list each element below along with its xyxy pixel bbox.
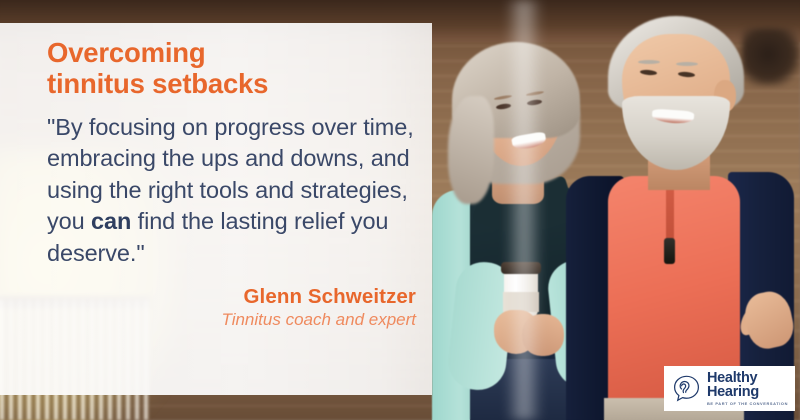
logo-wordmark: Healthy Hearing BE PART OF THE CONVERSAT… <box>707 371 795 406</box>
tinnitus-quote-banner: Overcoming tinnitus setbacks "By focusin… <box>0 0 800 420</box>
quote-emphasis: can <box>91 208 131 234</box>
man-eyebrow-right <box>676 62 698 66</box>
hanging-lamp <box>742 28 800 86</box>
panel-content: Overcoming tinnitus setbacks "By focusin… <box>47 37 419 330</box>
attribution: Glenn Schweitzer Tinnitus coach and expe… <box>47 285 419 330</box>
logo-tagline: BE PART OF THE CONVERSATION <box>707 402 795 406</box>
woman-hair-side <box>448 96 494 204</box>
ear-in-speech-bubble-icon <box>672 374 701 403</box>
healthy-hearing-logo[interactable]: Healthy Hearing BE PART OF THE CONVERSAT… <box>664 366 795 411</box>
text-overlay-panel: Overcoming tinnitus setbacks "By focusin… <box>0 23 432 395</box>
logo-title: Healthy Hearing <box>707 371 795 400</box>
headline: Overcoming tinnitus setbacks <box>47 37 419 99</box>
man-eyebrow-left <box>638 60 660 64</box>
man-shirt-zipper <box>664 238 675 264</box>
attribution-name: Glenn Schweitzer <box>47 285 416 309</box>
light-column <box>505 0 543 420</box>
quote-text: "By focusing on progress over time, embr… <box>47 112 419 269</box>
attribution-role: Tinnitus coach and expert <box>47 310 416 330</box>
